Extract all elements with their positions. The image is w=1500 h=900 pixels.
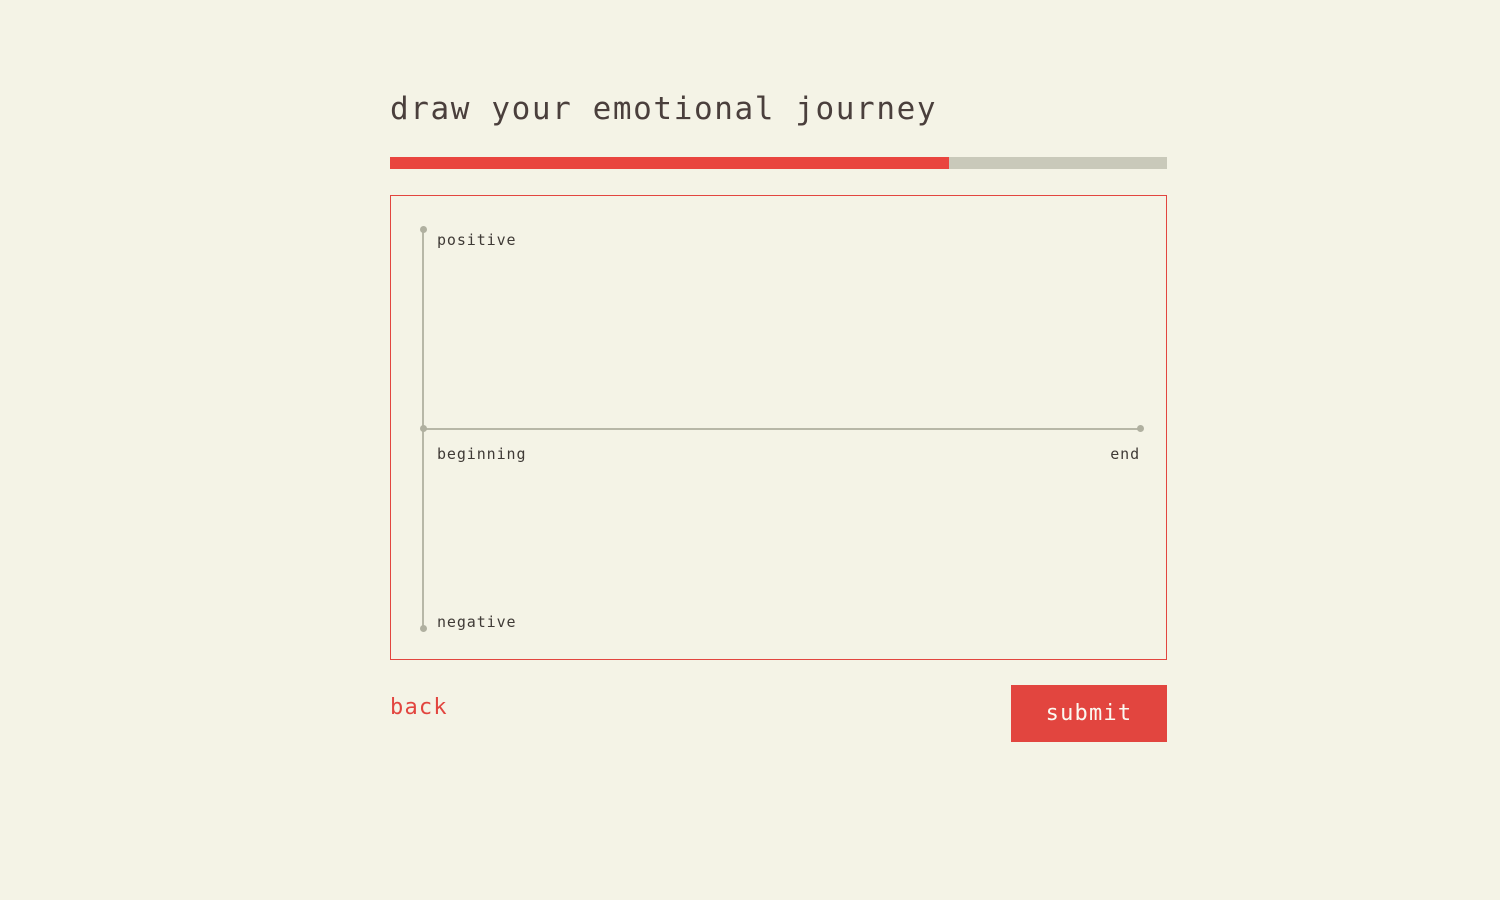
axis-endpoint-dot-end [1137, 425, 1144, 432]
axis-label-end: end [1110, 445, 1140, 463]
emotional-journey-drawing-canvas[interactable]: positive beginning end negative [390, 195, 1167, 660]
axis-endpoint-dot-negative [420, 625, 427, 632]
content-stage: draw your emotional journey positive beg… [390, 90, 1167, 742]
page-title: draw your emotional journey [390, 90, 1167, 128]
progress-bar-track [390, 157, 1167, 169]
axis-label-beginning: beginning [437, 445, 526, 463]
axis-endpoint-dot-positive [420, 226, 427, 233]
app-root: draw your emotional journey positive beg… [0, 0, 1500, 900]
axis-label-negative: negative [437, 613, 516, 631]
form-actions: back submit [390, 685, 1167, 742]
axis-label-positive: positive [437, 231, 516, 249]
chart-axes: positive beginning end negative [391, 196, 1166, 659]
horizontal-axis-line [422, 428, 1140, 430]
back-button[interactable]: back [390, 695, 448, 721]
progress-bar-fill [390, 157, 949, 169]
axis-origin-dot [420, 425, 427, 432]
submit-button[interactable]: submit [1011, 685, 1167, 742]
